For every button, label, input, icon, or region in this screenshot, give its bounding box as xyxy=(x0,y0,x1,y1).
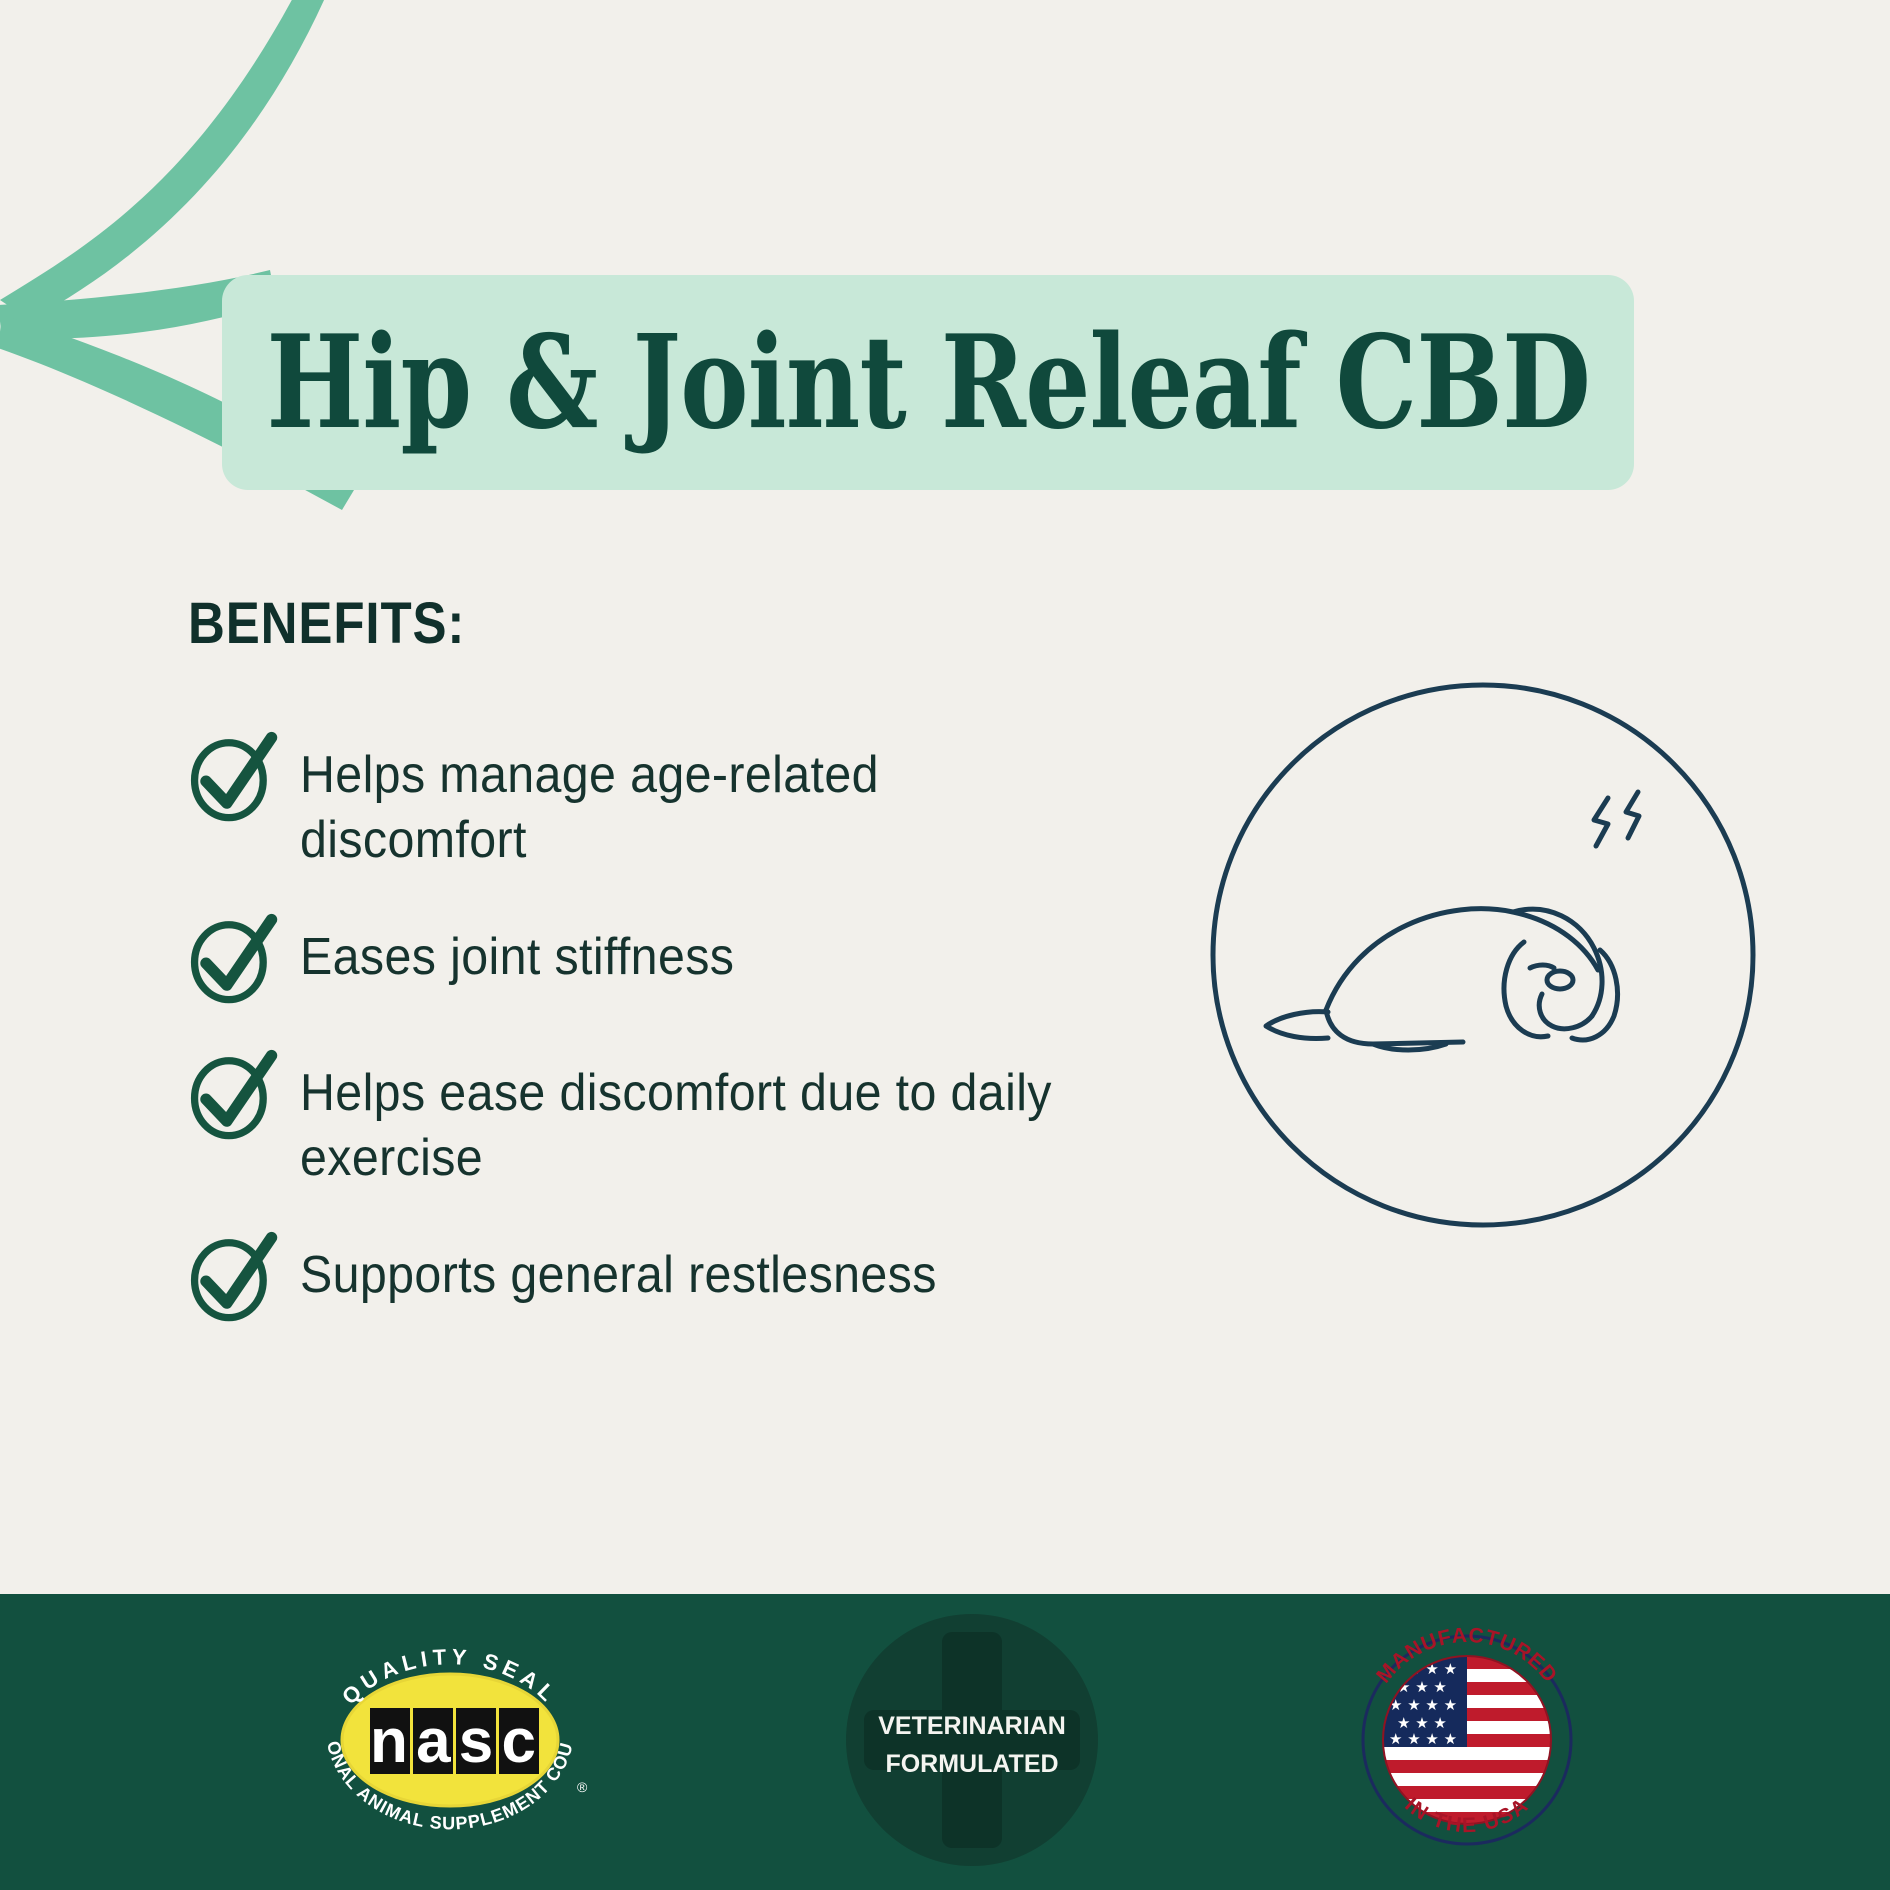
manufactured-in-usa-badge: ★ ★ ★ ★ ★ ★ ★ ★ ★ ★ ★ ★ ★ ★ ★ ★ ★ ★ MANU… xyxy=(1349,1622,1585,1863)
leaf-shape-1 xyxy=(0,0,335,320)
benefit-text: Eases joint stiffness xyxy=(300,917,734,990)
benefit-text: Helps manage age-related discomfort xyxy=(300,735,1072,873)
benefits-list: Helps manage age-related discomfort Ease… xyxy=(180,735,1180,1371)
list-item: Supports general restlesness xyxy=(180,1235,1180,1327)
page-title: Hip & Joint Releaf CBD xyxy=(266,319,1590,447)
vet-badge-line2: FORMULATED xyxy=(885,1750,1058,1778)
illustration-circle-border xyxy=(1213,685,1753,1225)
title-banner: Hip & Joint Releaf CBD xyxy=(222,275,1634,490)
svg-text:★ ★ ★ ★: ★ ★ ★ ★ xyxy=(1389,1730,1457,1748)
check-circle-icon xyxy=(180,723,284,827)
svg-text:★ ★ ★ ★: ★ ★ ★ ★ xyxy=(1389,1696,1457,1714)
vet-badge-line1: VETERINARIAN xyxy=(878,1712,1066,1740)
benefit-text: Helps ease discomfort due to daily exerc… xyxy=(300,1053,1072,1191)
veterinarian-formulated-badge: VETERINARIAN FORMULATED xyxy=(846,1614,1098,1871)
check-circle-icon xyxy=(180,1223,284,1327)
check-circle-icon xyxy=(180,1041,284,1145)
check-circle-icon xyxy=(180,905,284,1009)
list-item: Helps manage age-related discomfort xyxy=(180,735,1180,873)
nasc-quality-seal-badge: nasc QUALITY SEAL NATIONAL ANIMAL SUPPLE… xyxy=(305,1620,595,1865)
nasc-registered-mark: ® xyxy=(577,1779,588,1795)
list-item: Helps ease discomfort due to daily exerc… xyxy=(180,1053,1180,1191)
svg-text:★ ★ ★: ★ ★ ★ xyxy=(1397,1678,1447,1696)
benefit-text: Supports general restlesness xyxy=(300,1235,937,1308)
benefits-heading: BENEFITS: xyxy=(188,590,465,657)
sleeping-dog-illustration xyxy=(1208,680,1758,1230)
list-item: Eases joint stiffness xyxy=(180,917,1180,1009)
footer-badges-bar: nasc QUALITY SEAL NATIONAL ANIMAL SUPPLE… xyxy=(0,1594,1890,1890)
